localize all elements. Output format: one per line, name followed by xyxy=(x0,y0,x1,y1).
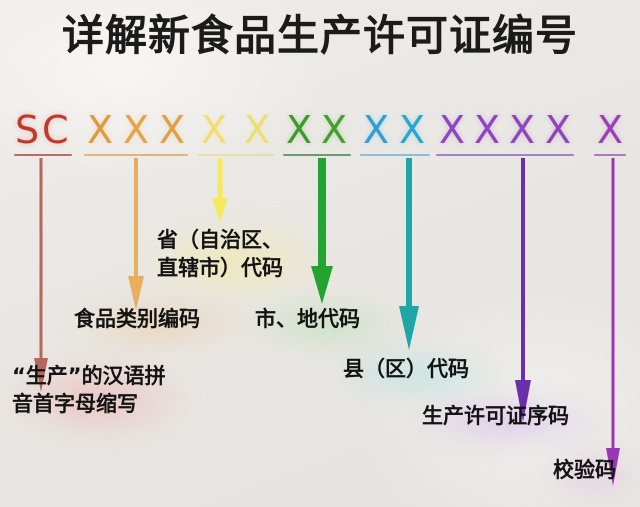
code-char-food-category-4: X xyxy=(158,108,186,152)
label-city-line-1: 市、地代码 xyxy=(255,305,360,333)
label-county-line-1: 县（区）代码 xyxy=(343,355,469,383)
code-char-province-6: X xyxy=(243,108,271,152)
license-code-row: SCXXXXXXXXXXXXXX xyxy=(0,108,640,154)
arrow-check-shaft xyxy=(612,158,615,448)
label-city: 市、地代码 xyxy=(255,305,360,333)
code-char-province-5: X xyxy=(200,108,228,152)
label-province-line-1: 省（自治区、 xyxy=(157,226,283,254)
code-char-serial-11: X xyxy=(438,108,466,152)
code-char-county-9: X xyxy=(362,108,390,152)
arrow-province-head xyxy=(212,198,228,222)
code-char-check-digit-15: X xyxy=(596,108,624,152)
arrow-province-shaft xyxy=(218,158,223,198)
arrow-city-head xyxy=(311,266,333,304)
arrow-city xyxy=(302,158,342,304)
label-sc-prefix: “生产”的汉语拼音首字母缩写 xyxy=(12,362,166,418)
label-province-line-2: 直辖市）代码 xyxy=(157,254,283,282)
label-province: 省（自治区、直辖市）代码 xyxy=(157,226,283,282)
label-sc-prefix-line-1: “生产”的汉语拼 xyxy=(12,362,166,390)
arrow-county xyxy=(389,158,429,350)
code-group-underline-food-category xyxy=(84,154,188,156)
label-serial: 生产许可证序码 xyxy=(422,402,569,430)
arrow-county-shaft xyxy=(406,158,412,306)
arrow-food-shaft xyxy=(134,158,138,276)
arrow-sc xyxy=(21,158,61,392)
label-check-digit: 校验码 xyxy=(553,456,616,484)
arrow-province xyxy=(200,158,240,222)
page-title: 详解新食品生产许可证编号 xyxy=(0,8,640,64)
arrow-food xyxy=(116,158,156,310)
arrow-sc-shaft xyxy=(40,158,43,358)
code-char-city-7: X xyxy=(285,108,313,152)
code-char-city-8: X xyxy=(320,108,348,152)
code-char-sc-prefix-0: S xyxy=(14,108,40,152)
code-char-serial-14: X xyxy=(544,108,572,152)
arrow-check xyxy=(593,158,633,486)
code-char-serial-13: X xyxy=(508,108,536,152)
code-group-underline-province xyxy=(198,154,274,156)
arrow-city-shaft xyxy=(318,158,326,266)
infographic-canvas: 详解新食品生产许可证编号 SCXXXXXXXXXXXXXX 省（自治区、直辖市）… xyxy=(0,0,640,507)
code-group-underline-check-digit xyxy=(594,154,626,156)
label-serial-line-1: 生产许可证序码 xyxy=(422,402,569,430)
code-char-food-category-3: X xyxy=(122,108,150,152)
code-group-underline-sc-prefix xyxy=(14,154,72,156)
arrow-serial xyxy=(503,158,543,422)
code-char-county-10: X xyxy=(398,108,426,152)
code-char-sc-prefix-1: C xyxy=(42,108,68,152)
label-check-digit-line-1: 校验码 xyxy=(553,456,616,484)
label-sc-prefix-line-2: 音首字母缩写 xyxy=(12,390,166,418)
arrow-county-head xyxy=(399,306,419,350)
label-county: 县（区）代码 xyxy=(343,355,469,383)
code-group-underline-county xyxy=(360,154,430,156)
code-char-food-category-2: X xyxy=(86,108,114,152)
code-char-serial-12: X xyxy=(473,108,501,152)
label-food-category-line-1: 食品类别编码 xyxy=(74,305,200,333)
label-food-category: 食品类别编码 xyxy=(74,305,200,333)
code-group-underline-serial xyxy=(436,154,574,156)
code-group-underline-city xyxy=(283,154,351,156)
arrow-serial-shaft xyxy=(521,158,525,380)
